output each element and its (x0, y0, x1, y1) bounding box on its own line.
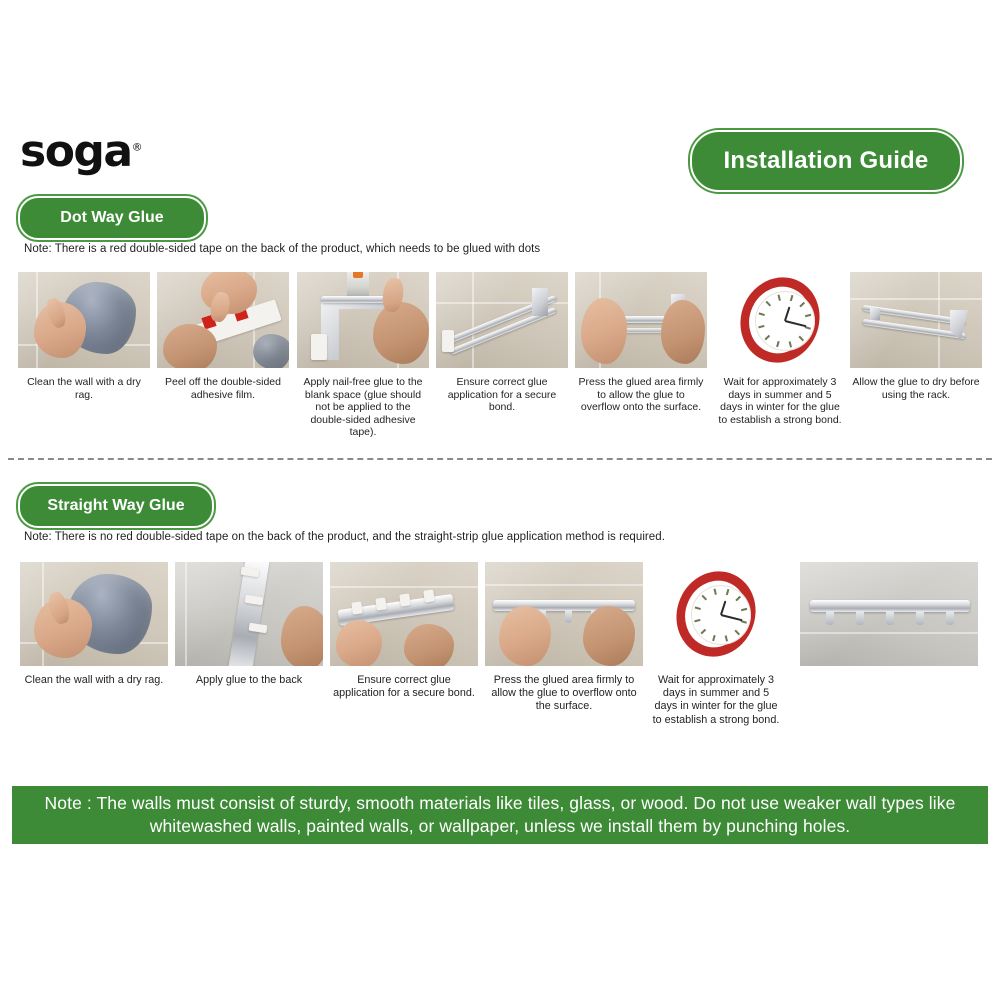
section-pill-straight-way-glue-label: Straight Way Glue (47, 497, 184, 515)
step-item: Apply nail-free glue to the blank space … (297, 272, 429, 439)
step-item: Apply glue to the back (175, 562, 323, 687)
step-image-glue-application (436, 272, 568, 368)
step-item: Clean the wall with a dry rag. (18, 272, 150, 401)
step-item: Ensure correct glue application for a se… (330, 562, 478, 700)
step-image-peel-film (157, 272, 289, 368)
section-pill-dot-way-glue-label: Dot Way Glue (60, 209, 163, 227)
step-item: Press the glued area firmly to allow the… (575, 272, 707, 414)
footer-note-text: Note : The walls must consist of sturdy,… (12, 792, 988, 838)
step-image-wait-clock (714, 272, 846, 368)
step-item: Ensure correct glue application for a se… (436, 272, 568, 414)
step-image-clean-wall (20, 562, 168, 666)
section-pill-straight-way-glue: Straight Way Glue (18, 484, 214, 528)
step-image-glue-on-back (175, 562, 323, 666)
step-caption: Peel off the double-sided adhesive film. (157, 376, 289, 401)
step-caption: Ensure correct glue application for a se… (436, 376, 568, 414)
step-image-press-rack (575, 272, 707, 368)
registered-mark: ® (132, 140, 143, 153)
installation-guide-badge-label: Installation Guide (724, 147, 929, 175)
step-caption: Press the glued area firmly to allow the… (575, 376, 707, 414)
step-caption: Wait for approximately 3 days in summer … (650, 674, 782, 727)
section-note-straight-way-glue: Note: There is no red double-sided tape … (24, 531, 665, 543)
step-item: Wait for approximately 3 days in summer … (650, 562, 782, 727)
step-image-wait-clock (650, 562, 782, 666)
step-caption: Clean the wall with a dry rag. (18, 376, 150, 401)
step-caption: Wait for approximately 3 days in summer … (714, 376, 846, 426)
installation-guide-page: soga® Installation Guide Dot Way Glue No… (0, 0, 1000, 1000)
brand-logo-text: soga (20, 126, 132, 177)
step-caption: Clean the wall with a dry rag. (20, 674, 168, 687)
step-image-apply-glue (297, 272, 429, 368)
section-divider (8, 458, 992, 460)
step-item (800, 562, 978, 674)
step-caption: Apply glue to the back (175, 674, 323, 687)
step-item: Press the glued area firmly to allow the… (485, 562, 643, 714)
step-item: Allow the glue to dry before using the r… (850, 272, 982, 401)
section-pill-dot-way-glue: Dot Way Glue (18, 196, 206, 240)
step-image-correct-application (330, 562, 478, 666)
step-caption: Allow the glue to dry before using the r… (850, 376, 982, 401)
step-item: Wait for approximately 3 days in summer … (714, 272, 846, 426)
step-image-installed-hook-rail (800, 562, 978, 666)
footer-note-banner: Note : The walls must consist of sturdy,… (12, 786, 988, 844)
installation-guide-badge: Installation Guide (690, 130, 962, 192)
step-item: Peel off the double-sided adhesive film. (157, 272, 289, 401)
step-image-press-rail (485, 562, 643, 666)
section-note-dot-way-glue: Note: There is a red double-sided tape o… (24, 243, 540, 255)
step-caption: Ensure correct glue application for a se… (330, 674, 478, 700)
step-caption: Apply nail-free glue to the blank space … (297, 376, 429, 439)
brand-logo: soga® (20, 130, 143, 174)
step-image-clean-wall (18, 272, 150, 368)
step-image-installed-rack (850, 272, 982, 368)
step-caption: Press the glued area firmly to allow the… (485, 674, 643, 714)
step-item: Clean the wall with a dry rag. (20, 562, 168, 687)
